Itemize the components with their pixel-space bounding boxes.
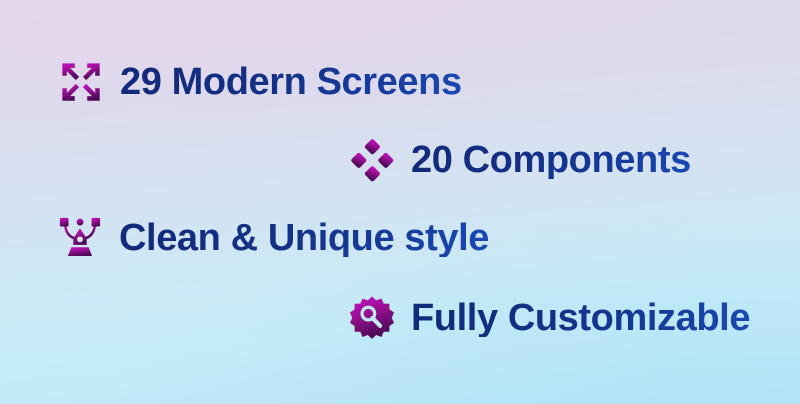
feature-banner: 29 Modern Screens 20 bbox=[0, 0, 800, 404]
expand-arrows-icon bbox=[58, 59, 120, 105]
feature-item-customizable: Fully Customizable bbox=[349, 295, 750, 341]
feature-item-screens: 29 Modern Screens bbox=[58, 59, 462, 105]
feature-label-components: 20 Components bbox=[411, 141, 691, 179]
four-diamonds-icon bbox=[349, 137, 411, 183]
feature-item-style: Clean & Unique style bbox=[57, 215, 489, 261]
pen-tool-icon bbox=[57, 215, 119, 261]
feature-label-screens: 29 Modern Screens bbox=[120, 63, 462, 101]
feature-label-customizable: Fully Customizable bbox=[411, 299, 750, 337]
feature-label-style: Clean & Unique style bbox=[119, 219, 489, 257]
gear-wrench-icon bbox=[349, 295, 411, 341]
feature-item-components: 20 Components bbox=[349, 137, 691, 183]
